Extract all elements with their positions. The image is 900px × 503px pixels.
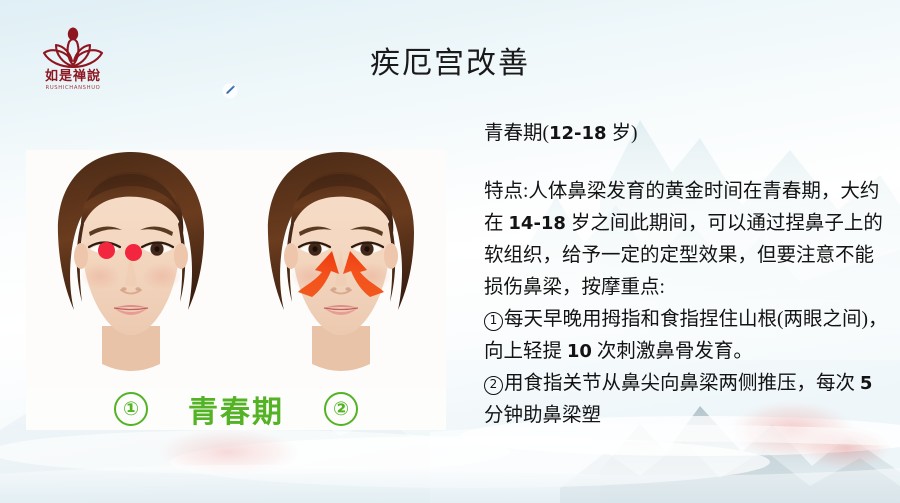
massage-step-two: 2用食指关节从鼻尖向鼻梁两侧推压，每次 5 分钟助鼻梁塑 <box>484 368 888 432</box>
step-two-minutes: 5 <box>860 373 873 394</box>
step-two-part-c: 分钟助鼻梁塑 <box>484 405 601 426</box>
illustration-photo: ① 青春期 ② <box>26 150 446 430</box>
step-one-count: 10 <box>567 341 592 362</box>
caption-number-one: ① <box>114 392 148 426</box>
step-one-part-c: 次刺激鼻骨发育。 <box>592 341 753 362</box>
content-text-block: 青春期(12-18 岁) 特点:人体鼻梁发育的黄金时间在青春期，大约在 14-1… <box>484 118 888 432</box>
heading-age-range: 12-18 <box>549 123 607 144</box>
paragraph-characteristics: 特点:人体鼻梁发育的黄金时间在青春期，大约在 14-18 岁之间此期间，可以通过… <box>484 176 888 304</box>
acupoint-dot-right <box>125 244 142 261</box>
pen-cursor-icon <box>222 82 238 100</box>
photo-caption-row: ① 青春期 ② <box>26 388 446 430</box>
caption-number-two: ② <box>324 392 358 426</box>
logo-pinyin-text: RUSHICHANSHUO <box>30 85 116 91</box>
step-two-badge: 2 <box>484 376 503 395</box>
face-photo-left <box>26 150 236 388</box>
heading-prefix: 青春期( <box>484 123 549 144</box>
massage-direction-arrows-icon <box>236 150 446 388</box>
page-title: 疾厄宫改善 <box>0 38 900 82</box>
slide-canvas: 如是禅說 RUSHICHANSHUO 疾厄宫改善 <box>0 0 900 503</box>
para1-age-range: 14-18 <box>508 213 566 234</box>
heading-suffix: 岁) <box>607 123 638 144</box>
acupoint-dot-left <box>98 242 115 259</box>
caption-label: 青春期 <box>188 387 284 430</box>
face-photo-right <box>236 150 446 388</box>
step-two-part-a: 用食指关节从鼻尖向鼻梁两侧推压，每次 <box>504 373 860 394</box>
massage-step-one: 1每天早晚用拇指和食指捏住山根(两眼之间)，向上轻提 10 次刺激鼻骨发育。 <box>484 304 888 368</box>
step-one-badge: 1 <box>484 312 503 331</box>
face-illustration-left <box>26 150 236 388</box>
age-range-heading: 青春期(12-18 岁) <box>484 118 888 150</box>
